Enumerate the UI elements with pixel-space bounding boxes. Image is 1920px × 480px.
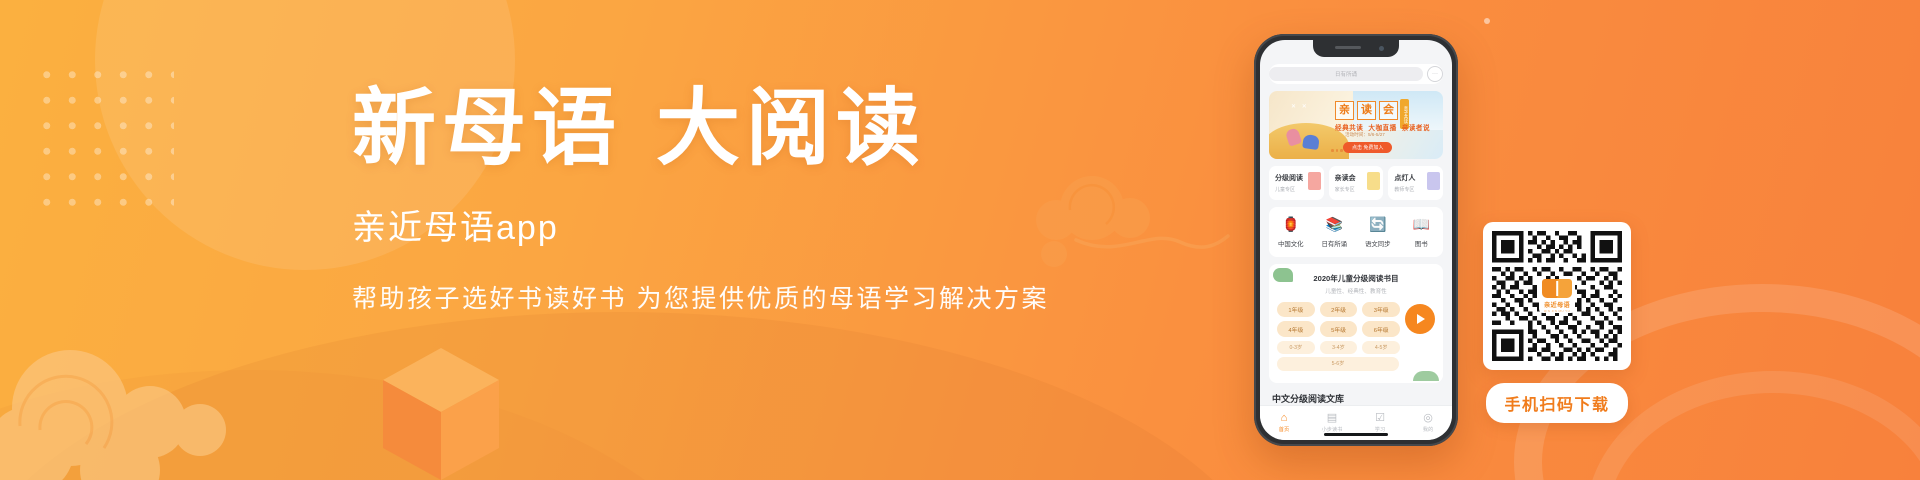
auspicious-cloud-small-decoration bbox=[1030, 168, 1260, 278]
bookmark-yellow-icon bbox=[1367, 172, 1380, 190]
quick-link-label: 语文同步 bbox=[1356, 239, 1400, 248]
qr-logo-en: QIN JIN MU YU bbox=[1544, 309, 1570, 313]
tab-label: 我的 bbox=[1404, 426, 1452, 433]
grade-grid: 1年级 2年级 3年级 4年级 5年级 6年级 0-3岁 3-4岁 4- bbox=[1277, 302, 1400, 358]
booklist-title: 2020年儿童分级阅读书目 bbox=[1277, 273, 1435, 284]
headline-part2: 大阅读 bbox=[656, 83, 926, 176]
library-section-title: 中文分级阅读文库 bbox=[1272, 392, 1452, 405]
download-button[interactable]: 手机扫码下载 bbox=[1486, 383, 1627, 423]
bookmark-purple-icon bbox=[1427, 172, 1440, 190]
search-input[interactable]: 日有所诵 bbox=[1269, 67, 1423, 81]
quick-link-chinese-culture[interactable]: 🏮 中国文化 bbox=[1269, 216, 1313, 248]
home-icon: ⌂ bbox=[1260, 413, 1308, 424]
camera-icon bbox=[1379, 46, 1384, 51]
quick-link-daily-recite[interactable]: 📚 日有所诵 bbox=[1313, 216, 1357, 248]
page-title: 新母语大阅读 bbox=[352, 86, 1052, 174]
hero-child-two bbox=[1302, 134, 1320, 150]
hero-title-char-3: 会 bbox=[1379, 101, 1398, 120]
qr-code-image[interactable]: 亲近母语 QIN JIN MU YU bbox=[1492, 231, 1622, 361]
age-pill[interactable]: 3-4岁 bbox=[1320, 341, 1358, 354]
age-row: 0-3岁 3-4岁 4-5岁 bbox=[1277, 341, 1400, 354]
quick-link-label: 日有所诵 bbox=[1313, 239, 1357, 248]
quick-links-row: 🏮 中国文化 📚 日有所诵 🔄 语文同步 📖 图书 bbox=[1269, 207, 1443, 257]
home-indicator bbox=[1324, 433, 1388, 436]
leaf-decoration-bottom bbox=[1413, 371, 1439, 381]
profile-icon: ◎ bbox=[1404, 413, 1452, 424]
tab-label: 首页 bbox=[1260, 426, 1308, 433]
qr-logo-name: 亲近母语 bbox=[1544, 300, 1570, 309]
category-card-graded-reading[interactable]: 分级阅读 儿童专区 bbox=[1269, 166, 1324, 200]
hero-join-button[interactable]: 点击 免费加入 bbox=[1343, 142, 1392, 153]
phone-notch bbox=[1313, 40, 1399, 57]
grade-selector: 1年级 2年级 3年级 4年级 5年级 6年级 0-3岁 3-4岁 4- bbox=[1277, 302, 1435, 358]
booklist-card: 2020年儿童分级阅读书目 儿童性、经典性、教育性 1年级 2年级 3年级 4年… bbox=[1269, 264, 1443, 383]
sync-icon: 🔄 bbox=[1369, 216, 1386, 232]
hero-title: 亲 读 会 bbox=[1335, 101, 1398, 120]
books-icon: 📚 bbox=[1326, 216, 1343, 232]
app-name-subtitle: 亲近母语app bbox=[352, 200, 1052, 249]
grade-pill[interactable]: 3年级 bbox=[1362, 302, 1400, 317]
grade-pill[interactable]: 6年级 bbox=[1362, 321, 1400, 336]
grade-row-primary-upper: 4年级 5年级 6年级 bbox=[1277, 321, 1400, 336]
more-options-icon[interactable]: ··· bbox=[1427, 66, 1443, 82]
app-search-bar: 日有所诵 ··· bbox=[1269, 64, 1443, 84]
quick-link-label: 中国文化 bbox=[1269, 239, 1313, 248]
grade-pill[interactable]: 5年级 bbox=[1320, 321, 1358, 336]
tagline: 帮助孩子选好书读好书 为您提供优质的母语学习解决方案 bbox=[352, 279, 1052, 315]
age-pill[interactable]: 0-3岁 bbox=[1277, 341, 1315, 354]
hero-subitem-3: 亲读者说 bbox=[1402, 125, 1430, 132]
play-button-icon[interactable] bbox=[1405, 304, 1435, 334]
book-icon: 📖 bbox=[1413, 216, 1430, 232]
lantern-icon: 🏮 bbox=[1282, 216, 1299, 232]
open-book-icon bbox=[1542, 279, 1572, 298]
tab-home[interactable]: ⌂ 首页 bbox=[1260, 413, 1308, 434]
category-trio: 分级阅读 儿童专区 亲读会 家长专区 点灯人 教师专区 bbox=[1269, 166, 1443, 200]
hero-title-char-1: 亲 bbox=[1335, 101, 1354, 120]
hero-date: 活动时间：5/6-5/27 bbox=[1345, 132, 1385, 138]
qr-card: 亲近母语 QIN JIN MU YU bbox=[1483, 222, 1631, 370]
quick-link-label: 图书 bbox=[1400, 239, 1444, 248]
hero-subitem-1: 经典共读 bbox=[1335, 125, 1363, 132]
hero-banner-card[interactable]: ✕ ✕ 亲 读 会 亲子共读 经典共读大咖直播亲读者说 活动时间：5/6-5/2… bbox=[1269, 91, 1443, 159]
category-card-parent-club[interactable]: 亲读会 家长专区 bbox=[1329, 166, 1384, 200]
reading-icon: ▤ bbox=[1308, 413, 1356, 424]
qr-center-logo: 亲近母语 QIN JIN MU YU bbox=[1539, 279, 1575, 313]
sparkle-decoration bbox=[1484, 18, 1490, 24]
phone-mockup: 日有所诵 ··· ✕ ✕ 亲 读 会 亲子共读 bbox=[1254, 34, 1458, 446]
phone-screen: 日有所诵 ··· ✕ ✕ 亲 读 会 亲子共读 bbox=[1260, 40, 1452, 440]
quick-link-books[interactable]: 📖 图书 bbox=[1400, 216, 1444, 248]
tab-study[interactable]: ☑ 学习 bbox=[1356, 413, 1404, 434]
hero-title-char-2: 读 bbox=[1357, 101, 1376, 120]
grade-pill[interactable]: 4年级 bbox=[1277, 321, 1315, 336]
study-icon: ☑ bbox=[1356, 413, 1404, 424]
qr-download-block: 亲近母语 QIN JIN MU YU 手机扫码下载 bbox=[1483, 222, 1631, 423]
speaker-icon bbox=[1335, 46, 1361, 49]
auspicious-cloud-large-decoration bbox=[0, 330, 360, 480]
hero-subitem-2: 大咖直播 bbox=[1368, 125, 1396, 132]
cube-decoration bbox=[383, 348, 499, 480]
hero-banner[interactable]: ✕ ✕ 亲 读 会 亲子共读 经典共读大咖直播亲读者说 活动时间：5/6-5/2… bbox=[1269, 91, 1443, 159]
tab-profile[interactable]: ◎ 我的 bbox=[1404, 413, 1452, 434]
category-card-teacher[interactable]: 点灯人 教师专区 bbox=[1388, 166, 1443, 200]
bookmark-red-icon bbox=[1308, 172, 1321, 190]
hill-front-decoration bbox=[0, 312, 1280, 480]
ring-inner-decoration bbox=[1586, 371, 1920, 480]
dot-grid-decoration bbox=[32, 60, 174, 212]
headline-part1: 新母语 bbox=[352, 83, 622, 176]
age-pill[interactable]: 4-5岁 bbox=[1362, 341, 1400, 354]
carousel-dots[interactable] bbox=[1331, 149, 1343, 152]
age-pill[interactable]: 5-6岁 bbox=[1277, 357, 1399, 370]
grade-row-primary-lower: 1年级 2年级 3年级 bbox=[1277, 302, 1400, 317]
hero-subitems: 经典共读大咖直播亲读者说 bbox=[1335, 122, 1435, 132]
booklist-subtitle: 儿童性、经典性、教育性 bbox=[1277, 287, 1435, 295]
promo-banner: 新母语大阅读 亲近母语app 帮助孩子选好书读好书 为您提供优质的母语学习解决方… bbox=[0, 0, 1920, 480]
copy-block: 新母语大阅读 亲近母语app 帮助孩子选好书读好书 为您提供优质的母语学习解决方… bbox=[352, 86, 1052, 315]
age-row-extra: 5-6岁 bbox=[1277, 357, 1399, 370]
birds-icon: ✕ ✕ bbox=[1291, 103, 1309, 110]
hill-back-decoration bbox=[0, 370, 760, 480]
grade-pill[interactable]: 1年级 bbox=[1277, 302, 1315, 317]
tab-reading[interactable]: ▤ 小步读书 bbox=[1308, 413, 1356, 434]
quick-link-sync[interactable]: 🔄 语文同步 bbox=[1356, 216, 1400, 248]
grade-pill[interactable]: 2年级 bbox=[1320, 302, 1358, 317]
